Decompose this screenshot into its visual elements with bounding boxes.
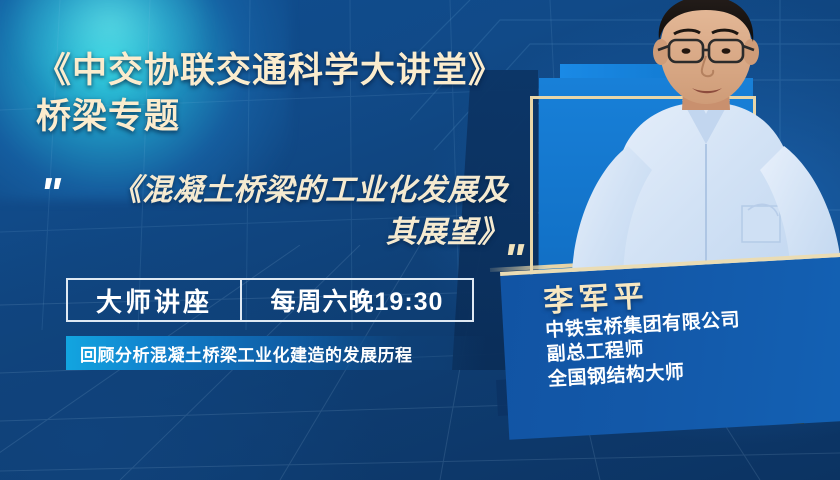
lecture-schedule: 每周六晚19:30 bbox=[242, 282, 472, 318]
lecture-poster: 《中交协联交通科学大讲堂》 桥梁专题 " 《混凝土桥梁的工业化发展及其展望》 "… bbox=[0, 0, 840, 480]
quote-open-icon: " bbox=[40, 172, 61, 216]
lecture-label: 大师讲座 bbox=[68, 282, 240, 319]
speaker-card-content: 李军平 中铁宝桥集团有限公司 副总工程师 全国钢结构大师 bbox=[500, 257, 840, 396]
description-text: 回顾分析混凝土桥梁工业化建造的发展历程 bbox=[66, 341, 413, 366]
page-title: 《中交协联交通科学大讲堂》 桥梁专题 bbox=[36, 48, 576, 139]
quote-block: " 《混凝土桥梁的工业化发展及其展望》 " bbox=[36, 168, 516, 276]
description-bar: 回顾分析混凝土桥梁工业化建造的发展历程 bbox=[66, 336, 486, 370]
speaker-card: 李军平 中铁宝桥集团有限公司 副总工程师 全国钢结构大师 bbox=[500, 253, 840, 440]
lecture-info-box: 大师讲座 每周六晚19:30 bbox=[66, 278, 474, 322]
quote-text: 《混凝土桥梁的工业化发展及其展望》 bbox=[88, 170, 508, 254]
